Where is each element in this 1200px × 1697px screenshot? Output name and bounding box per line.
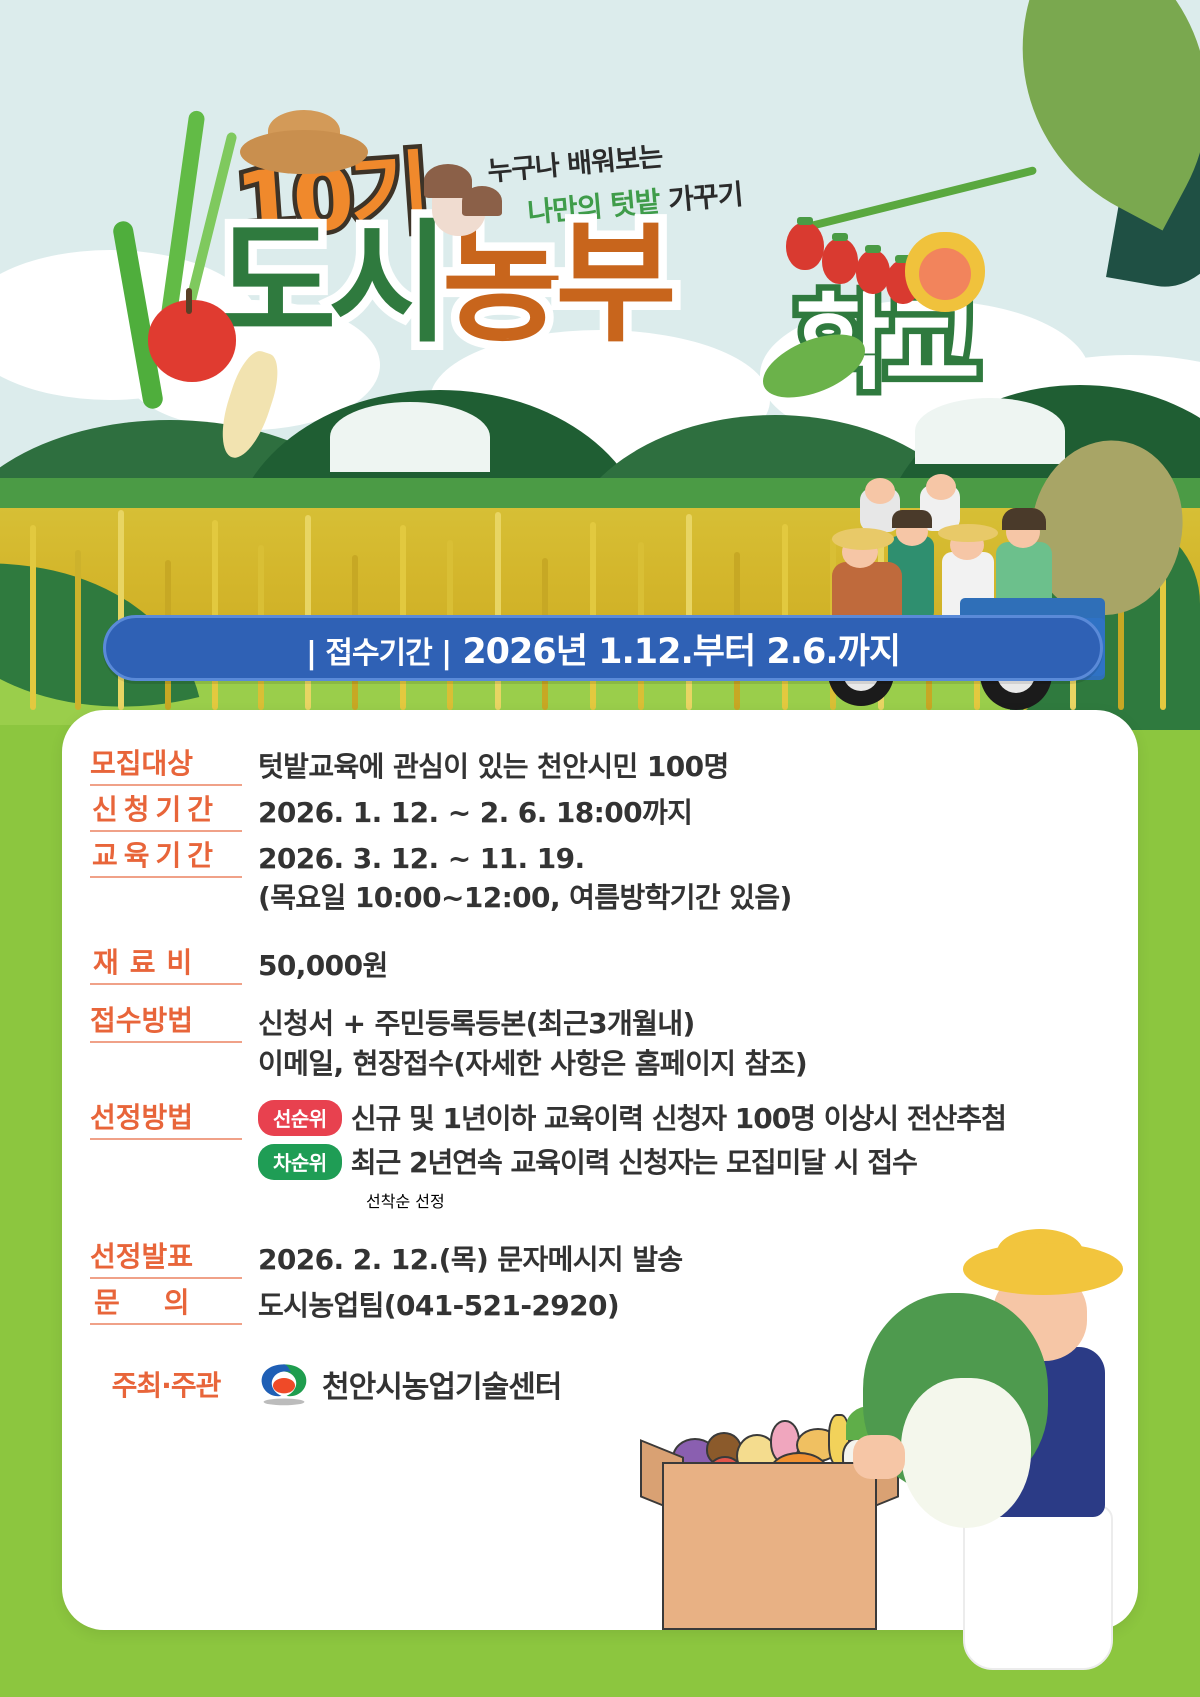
host-name: 천안시농업기술센터 bbox=[322, 1362, 561, 1406]
row-value-application-period: 2026. 1. 12. ~ 2. 6. 18:00까지 bbox=[258, 792, 692, 833]
mushroom-cap-icon bbox=[462, 186, 502, 216]
tagline-dark-text: 가꾸기 bbox=[658, 178, 744, 218]
selection-text: 최근 2년연속 교육이력 신청자는 모집미달 시 접수 bbox=[351, 1144, 917, 1182]
cheonan-city-logo-icon bbox=[258, 1361, 310, 1407]
row-value-education-period: 2026. 3. 12. ~ 11. 19. (목요일 10:00~12:00,… bbox=[258, 838, 792, 919]
selection-item-continuation: 선착순 선정 bbox=[258, 1188, 1110, 1212]
row-value-inquiry: 도시농업팀(041-521-2920) bbox=[258, 1285, 619, 1326]
row-label-education-period: 교육기간 bbox=[90, 838, 242, 878]
farmer-illustration bbox=[845, 1235, 1175, 1675]
value-line: 도시농업팀(041-521-2920) bbox=[258, 1286, 619, 1326]
value-line: 50,000원 bbox=[258, 946, 388, 986]
main-title: 도시농부 bbox=[215, 218, 669, 350]
row-value-recruitment-target: 텃밭교육에 관심이 있는 천안시민 100명 bbox=[258, 746, 729, 787]
tomato-vine bbox=[793, 166, 1038, 234]
value-line: (목요일 10:00~12:00, 여름방학기간 있음) bbox=[258, 878, 792, 918]
row-label-application-period: 신청기간 bbox=[90, 792, 242, 832]
application-period-banner: | 접수기간 | 2026년 1.12.부터 2.6.까지 bbox=[103, 615, 1103, 681]
row-label-selection-announcement: 선정발표 bbox=[90, 1239, 242, 1279]
value-line: 이메일, 현장접수(자세한 사항은 홈페이지 참조) bbox=[258, 1044, 807, 1084]
value-line: 텃밭교육에 관심이 있는 천안시민 100명 bbox=[258, 747, 729, 787]
straw-hat-icon bbox=[963, 1243, 1123, 1295]
title-block: 10기 누구나 배워보는 나만의 텃밭 가꾸기 도시농부 학교 bbox=[0, 0, 1200, 470]
apple-stem bbox=[186, 288, 192, 314]
row-value-selection-announcement: 2026. 2. 12.(목) 문자메시지 발송 bbox=[258, 1239, 683, 1280]
table-row-selection-method: 선정방법 선순위 신규 및 1년이하 교육이력 신청자 100명 이상시 전산추… bbox=[90, 1100, 1110, 1212]
table-row: 신청기간 2026. 1. 12. ~ 2. 6. 18:00까지 bbox=[90, 792, 1110, 833]
priority-badge-second: 차순위 bbox=[258, 1144, 342, 1180]
row-label-recruitment-target: 모집대상 bbox=[90, 746, 242, 786]
tomato-icon bbox=[822, 238, 858, 284]
table-row: 재료비 50,000원 bbox=[90, 945, 1110, 986]
banner-content: | 접수기간 | 2026년 1.12.부터 2.6.까지 bbox=[306, 623, 900, 674]
fig-icon bbox=[905, 232, 985, 312]
tomato-icon bbox=[786, 222, 824, 270]
farmer-legs bbox=[963, 1505, 1113, 1670]
host-label: 주최·주관 bbox=[90, 1364, 242, 1404]
title-part-3: 부 bbox=[555, 207, 668, 361]
poster-root: 10기 누구나 배워보는 나만의 텃밭 가꾸기 도시농부 학교 | 접수기간 |… bbox=[0, 0, 1200, 1697]
value-line: 신청서 + 주민등록등본(최근3개월내) bbox=[258, 1004, 807, 1044]
selection-text-2: 선착순 선정 bbox=[366, 1192, 445, 1211]
table-row: 접수방법 신청서 + 주민등록등본(최근3개월내) 이메일, 현장접수(자세한 … bbox=[90, 1003, 1110, 1084]
row-value-material-fee: 50,000원 bbox=[258, 945, 388, 986]
farmer-hand bbox=[853, 1435, 905, 1479]
row-label-selection-method: 선정방법 bbox=[90, 1100, 242, 1140]
selection-item: 차순위 최근 2년연속 교육이력 신청자는 모집미달 시 접수 bbox=[258, 1144, 1110, 1182]
straw-hat-icon bbox=[240, 130, 368, 174]
table-row: 교육기간 2026. 3. 12. ~ 11. 19. (목요일 10:00~1… bbox=[90, 838, 1110, 919]
tomato-icon bbox=[856, 250, 890, 294]
value-line: 2026. 3. 12. ~ 11. 19. bbox=[258, 839, 792, 879]
apple-icon bbox=[148, 300, 236, 382]
value-line: 2026. 1. 12. ~ 2. 6. 18:00까지 bbox=[258, 793, 692, 833]
tagline-line-1: 누구나 배워보는 bbox=[486, 134, 664, 188]
row-label-material-fee: 재료비 bbox=[90, 945, 242, 985]
row-label-inquiry: 문의 bbox=[90, 1285, 242, 1325]
priority-badge-first: 선순위 bbox=[258, 1100, 342, 1136]
row-value-application-method: 신청서 + 주민등록등본(최근3개월내) 이메일, 현장접수(자세한 사항은 홈… bbox=[258, 1003, 807, 1084]
selection-text: 신규 및 1년이하 교육이력 신청자 100명 이상시 전산추첨 bbox=[351, 1100, 1006, 1138]
row-value-selection-method: 선순위 신규 및 1년이하 교육이력 신청자 100명 이상시 전산추첨 차순위… bbox=[258, 1100, 1110, 1212]
selection-item: 선순위 신규 및 1년이하 교육이력 신청자 100명 이상시 전산추첨 bbox=[258, 1100, 1110, 1138]
value-line: 2026. 2. 12.(목) 문자메시지 발송 bbox=[258, 1240, 683, 1280]
banner-label: | 접수기간 | bbox=[306, 636, 451, 671]
banner-period: 2026년 1.12.부터 2.6.까지 bbox=[462, 632, 900, 672]
title-part-1: 도시 bbox=[215, 207, 442, 361]
table-row: 모집대상 텃밭교육에 관심이 있는 천안시민 100명 bbox=[90, 746, 1110, 787]
row-label-application-method: 접수방법 bbox=[90, 1003, 242, 1043]
